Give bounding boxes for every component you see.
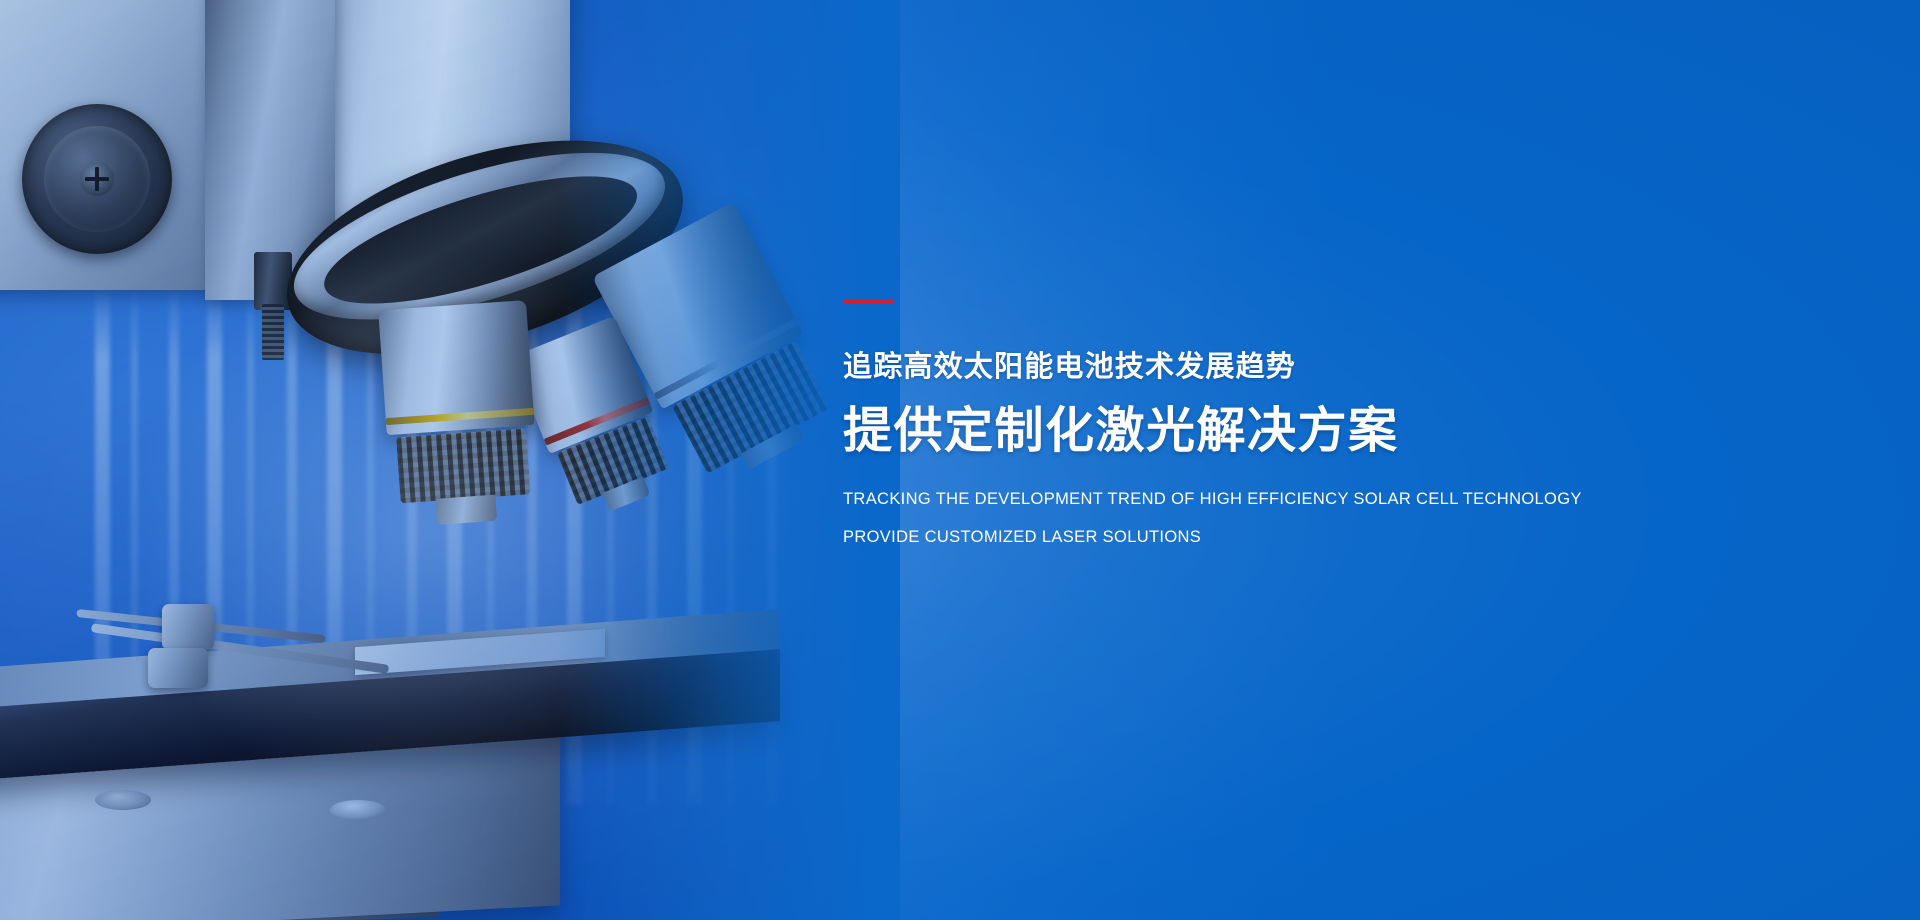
hero-banner: 追踪高效太阳能电池技术发展趋势 提供定制化激光解决方案 TRACKING THE… [0,0,1920,920]
red-accent-rule [843,300,894,304]
base-bolt [330,800,386,820]
stage-clip-post [162,604,214,650]
english-subtitle-group: TRACKING THE DEVELOPMENT TREND OF HIGH E… [843,491,1873,546]
focus-knob-screw-icon [80,162,114,196]
stage-clip [60,600,390,686]
stage-clip-post [148,648,208,688]
headline-subtitle: 追踪高效太阳能电池技术发展趋势 [843,352,1873,384]
english-subtitle-line-1: TRACKING THE DEVELOPMENT TREND OF HIGH E… [843,491,1873,508]
hero-content: 追踪高效太阳能电池技术发展趋势 提供定制化激光解决方案 TRACKING THE… [843,300,1873,546]
objective-grip [396,428,531,503]
microscope-photo [0,0,900,920]
objective-lens-yellow-band [378,300,540,510]
base-bolt [95,790,151,810]
page-title: 提供定制化激光解决方案 [843,404,1873,459]
english-subtitle-line-2: PROVIDE CUSTOMIZED LASER SOLUTIONS [843,529,1873,546]
objective-tip [436,495,497,525]
